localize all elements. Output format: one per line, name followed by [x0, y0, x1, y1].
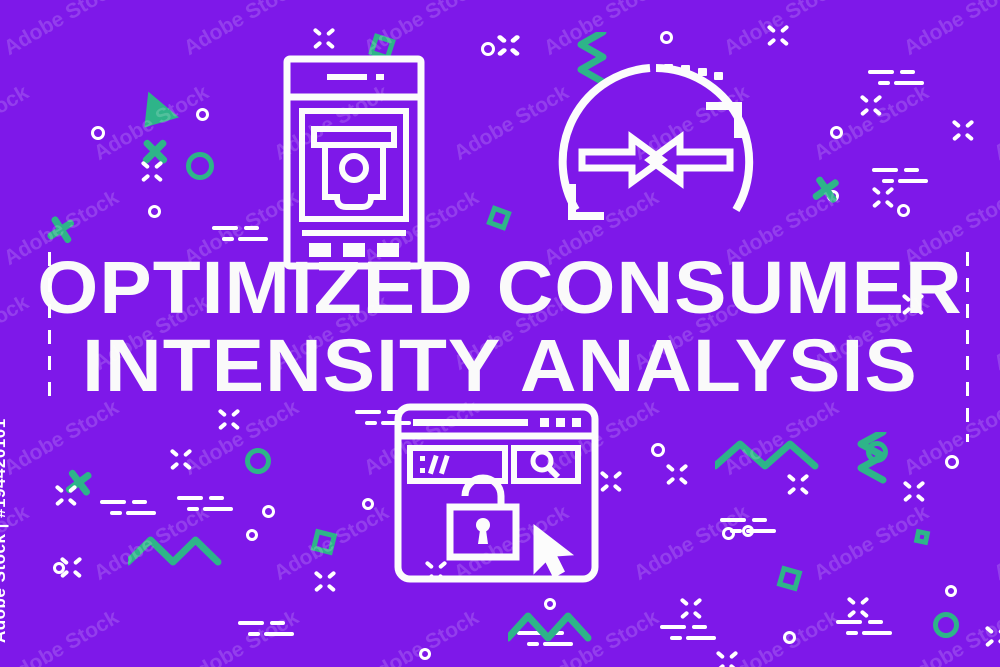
- white-dash-group: [720, 518, 780, 534]
- watermark-text: Adobe Stock: [810, 81, 933, 166]
- white-sparkle-icon: [497, 34, 519, 56]
- watermark-text: Adobe Stock: [270, 501, 393, 586]
- watermark-text: Adobe Stock: [360, 0, 483, 61]
- white-sparkle-icon: [60, 556, 82, 578]
- white-circle-outline-icon: [660, 31, 673, 44]
- white-circle-outline-icon: [897, 204, 910, 217]
- white-dash-group: [836, 620, 896, 636]
- green-cross-icon: [58, 462, 100, 504]
- watermark-text: Adobe Stock: [900, 606, 1000, 667]
- white-dash-group: [660, 625, 720, 641]
- watermark-text: Adobe Stock: [720, 0, 843, 61]
- white-circle-outline-icon: [246, 529, 258, 541]
- watermark-text: Adobe Stock: [720, 606, 843, 667]
- white-sparkle-icon: [860, 94, 882, 116]
- white-dash-group: [100, 500, 160, 516]
- dashed-vertical-rule-right: [966, 252, 969, 442]
- white-circle-outline-icon: [91, 126, 105, 140]
- white-sparkle-icon: [872, 186, 894, 208]
- watermark-text: Adobe Stock: [990, 81, 1000, 166]
- watermark-text: Adobe Stock: [630, 501, 753, 586]
- white-sparkle-icon: [600, 470, 622, 492]
- watermark-text: Adobe Stock: [180, 0, 303, 61]
- white-circle-outline-icon: [53, 562, 65, 574]
- white-circle-outline-icon: [419, 648, 431, 660]
- credit-text: Adobe Stock | #194420101: [0, 418, 10, 643]
- white-sparkle-icon: [55, 484, 77, 506]
- green-circle-outline-icon: [245, 448, 271, 474]
- dashed-vertical-rule-left: [48, 252, 51, 402]
- white-circle-outline-icon: [945, 455, 959, 469]
- watermark-text: Adobe Stock: [810, 501, 933, 586]
- sync-exchange-icon: [548, 58, 764, 263]
- white-dash-group: [177, 496, 237, 512]
- white-circle-outline-icon: [196, 108, 209, 121]
- credit-bar: Adobe Stock | #194420101: [2, 0, 48, 667]
- green-square-outline-icon: [311, 529, 338, 556]
- white-sparkle-icon: [985, 625, 1000, 647]
- watermark-text: Adobe Stock: [900, 396, 1000, 481]
- green-zigzag-vertical: [857, 432, 889, 491]
- page-title: OPTIMIZED CONSUMER INTENSITY ANALYSIS: [0, 249, 1000, 405]
- white-circle-outline-icon: [481, 42, 495, 56]
- green-square-outline-icon: [777, 566, 803, 592]
- white-sparkle-icon: [952, 119, 974, 141]
- white-dash-group: [212, 226, 272, 242]
- green-zigzag-horizontal: [128, 536, 224, 573]
- white-sparkle-icon: [141, 160, 163, 182]
- white-sparkle-icon: [680, 597, 702, 619]
- white-dash-group: [868, 70, 928, 86]
- watermark-text: Adobe Stock: [180, 606, 303, 667]
- green-circle-outline-icon: [186, 152, 214, 180]
- browser-security-icon: [394, 403, 599, 583]
- white-dash-group: [872, 168, 932, 184]
- watermark-text: Adobe Stock: [990, 501, 1000, 586]
- watermark-text: Adobe Stock: [180, 396, 303, 481]
- watermark-text: Adobe Stock: [540, 606, 663, 667]
- green-circle-outline-icon: [933, 612, 959, 638]
- white-circle-outline-icon: [945, 585, 957, 597]
- white-sparkle-icon: [787, 473, 809, 495]
- white-dash-group: [238, 621, 298, 637]
- green-square-outline-icon: [486, 205, 512, 231]
- watermark-text: Adobe Stock: [360, 606, 483, 667]
- white-sparkle-icon: [314, 570, 336, 592]
- page-title-line-1: OPTIMIZED CONSUMER: [0, 249, 1000, 327]
- white-sparkle-icon: [666, 463, 688, 485]
- green-cross-icon: [805, 169, 847, 211]
- white-sparkle-icon: [170, 448, 192, 470]
- atm-cash-machine-icon: [283, 55, 425, 270]
- white-sparkle-icon: [498, 34, 520, 56]
- white-sparkle-icon: [716, 650, 738, 667]
- white-sparkle-icon: [218, 408, 240, 430]
- white-sparkle-icon: [903, 480, 925, 502]
- white-circle-outline-icon: [722, 527, 735, 540]
- watermark-text: Adobe Stock: [90, 501, 213, 586]
- white-circle-outline-icon: [148, 205, 161, 218]
- white-circle-outline-icon: [742, 525, 754, 537]
- white-sparkle-icon: [767, 24, 789, 46]
- white-circle-outline-icon: [262, 505, 275, 518]
- stock-image-canvas: OPTIMIZED CONSUMER INTENSITY ANALYSIS Ad…: [0, 0, 1000, 667]
- green-cross-icon: [134, 131, 176, 173]
- watermark-text: Adobe Stock: [540, 0, 663, 61]
- watermark-text: Adobe Stock: [90, 81, 213, 166]
- white-sparkle-icon: [847, 596, 869, 618]
- green-square-outline-icon: [914, 529, 931, 546]
- green-zigzag-horizontal: [715, 440, 821, 477]
- white-circle-outline-icon: [827, 190, 839, 202]
- white-dash-group: [517, 631, 577, 647]
- green-zigzag-horizontal: [508, 612, 594, 649]
- white-circle-outline-icon: [783, 631, 796, 644]
- white-circle-outline-icon: [830, 126, 843, 139]
- green-circle-outline-icon: [866, 441, 888, 463]
- green-triangle-icon: [129, 92, 179, 141]
- white-circle-outline-icon: [651, 443, 665, 457]
- white-sparkle-icon: [313, 27, 335, 49]
- white-circle-outline-icon: [544, 598, 556, 610]
- watermark-text: Adobe Stock: [900, 0, 1000, 61]
- page-title-line-2: INTENSITY ANALYSIS: [0, 327, 1000, 405]
- watermark-text: Adobe Stock: [720, 396, 843, 481]
- white-circle-outline-icon: [362, 498, 374, 510]
